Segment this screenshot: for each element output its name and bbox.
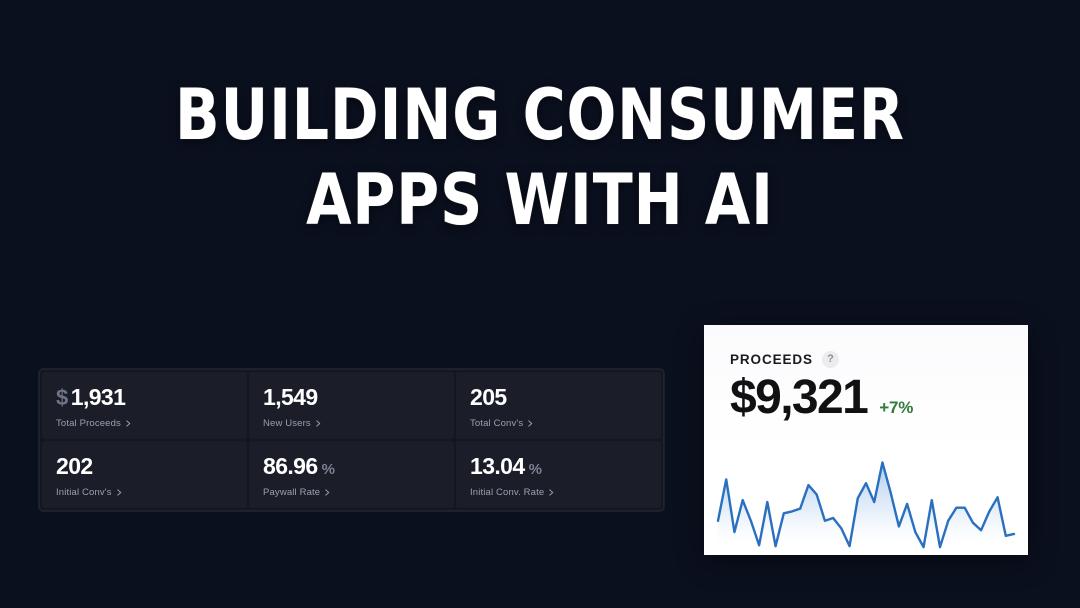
stat-label: Total Proceeds bbox=[56, 418, 121, 429]
chevron-right-icon bbox=[315, 420, 322, 427]
stat-suffix: % bbox=[529, 461, 542, 478]
stat-value: 13.04 bbox=[470, 453, 525, 480]
chevron-right-icon bbox=[125, 420, 132, 427]
stat-label: Initial Conv's bbox=[56, 487, 112, 498]
stat-label-row[interactable]: Total Proceeds bbox=[56, 418, 233, 429]
stat-label: Total Conv's bbox=[470, 418, 523, 429]
stat-label-row[interactable]: New Users bbox=[263, 418, 440, 429]
stat-value: 205 bbox=[470, 384, 507, 411]
chevron-right-icon bbox=[324, 489, 331, 496]
chevron-right-icon bbox=[527, 420, 534, 427]
stat-label-row[interactable]: Paywall Rate bbox=[263, 487, 440, 498]
stat-label-row[interactable]: Initial Conv's bbox=[56, 487, 233, 498]
help-icon[interactable]: ? bbox=[822, 351, 839, 368]
slide-title: BUILDING CONSUMER APPS WITH AI bbox=[0, 82, 1080, 234]
stat-label: Initial Conv. Rate bbox=[470, 487, 544, 498]
chevron-right-icon bbox=[116, 489, 123, 496]
stat-value: 202 bbox=[56, 453, 93, 480]
stat-prefix: $ bbox=[56, 385, 68, 411]
chart-area-fill bbox=[718, 463, 1014, 549]
stat-card[interactable]: $1,931Total Proceeds bbox=[42, 372, 247, 439]
stat-value: 1,931 bbox=[71, 384, 126, 411]
chevron-right-icon bbox=[548, 489, 555, 496]
stat-label-row[interactable]: Initial Conv. Rate bbox=[470, 487, 647, 498]
proceeds-header: PROCEEDS ? bbox=[704, 325, 1028, 368]
proceeds-amount: $9,321 bbox=[730, 372, 867, 424]
sparkline-svg bbox=[704, 437, 1028, 555]
stat-label-row[interactable]: Total Conv's bbox=[470, 418, 647, 429]
stat-value-row: 13.04% bbox=[470, 453, 647, 480]
proceeds-card: PROCEEDS ? $9,321 +7% bbox=[704, 325, 1028, 555]
stat-label: Paywall Rate bbox=[263, 487, 320, 498]
proceeds-amount-row: $9,321 +7% bbox=[704, 368, 1028, 424]
stat-value: 1,549 bbox=[263, 384, 318, 411]
stat-value-row: 205 bbox=[470, 384, 647, 411]
stat-card[interactable]: 1,549New Users bbox=[249, 372, 454, 439]
stat-value: 86.96 bbox=[263, 453, 318, 480]
stat-card[interactable]: 13.04%Initial Conv. Rate bbox=[456, 441, 661, 508]
proceeds-sparkline-chart bbox=[704, 437, 1028, 555]
stat-value-row: $1,931 bbox=[56, 384, 233, 411]
title-line-2: APPS WITH AI bbox=[38, 167, 1042, 234]
stat-suffix: % bbox=[322, 461, 335, 478]
stat-card[interactable]: 86.96%Paywall Rate bbox=[249, 441, 454, 508]
stats-grid: $1,931Total Proceeds1,549New Users205Tot… bbox=[39, 369, 664, 511]
stat-card[interactable]: 205Total Conv's bbox=[456, 372, 661, 439]
stat-card[interactable]: 202Initial Conv's bbox=[42, 441, 247, 508]
stat-label: New Users bbox=[263, 418, 311, 429]
proceeds-delta-badge: +7% bbox=[879, 398, 913, 418]
proceeds-label: PROCEEDS bbox=[730, 352, 813, 367]
stat-value-row: 202 bbox=[56, 453, 233, 480]
title-line-1: BUILDING CONSUMER bbox=[38, 82, 1042, 149]
stat-value-row: 86.96% bbox=[263, 453, 440, 480]
stat-value-row: 1,549 bbox=[263, 384, 440, 411]
